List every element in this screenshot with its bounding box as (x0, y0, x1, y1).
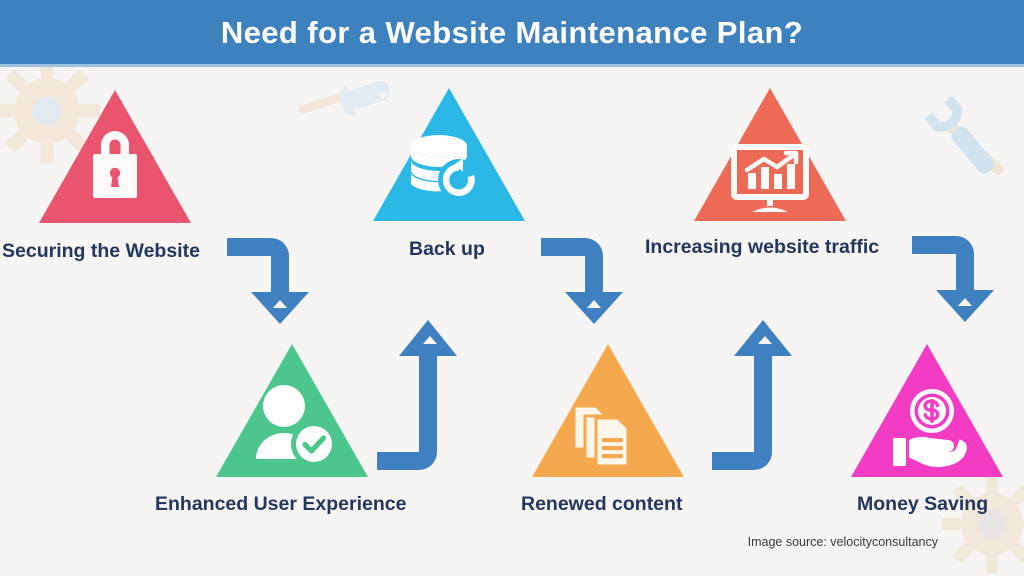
triangle-shape (532, 344, 684, 477)
triangle-shape (851, 344, 1003, 477)
arrow-down-backup-to-content (541, 236, 641, 326)
arrow-down-securing-to-ux (227, 236, 327, 326)
arrow-up-content-to-traffic (712, 316, 812, 472)
node-label-securing-the-website: Securing the Website (2, 242, 200, 262)
node-label-back-up: Back up (409, 240, 485, 260)
node-securing-the-website[interactable] (39, 90, 191, 223)
node-back-up[interactable] (373, 88, 525, 221)
triangle-shape (216, 344, 368, 477)
node-enhanced-user-experience[interactable] (216, 344, 368, 477)
node-label-enhanced-user-experience: Enhanced User Experience (155, 495, 406, 515)
image-source-credit: Image source: velocityconsultancy (748, 536, 938, 549)
gear-icon (940, 472, 1024, 576)
node-label-renewed-content: Renewed content (521, 495, 682, 515)
arrow-down-traffic-to-money (912, 234, 1012, 324)
triangle-shape (39, 90, 191, 223)
page-title: Need for a Website Maintenance Plan? (221, 17, 803, 48)
wrench-icon (916, 82, 1024, 212)
triangle-shape (373, 88, 525, 221)
node-label-money-saving: Money Saving (857, 495, 988, 515)
node-money-saving[interactable] (851, 344, 1003, 477)
title-banner: Need for a Website Maintenance Plan? (0, 0, 1024, 64)
node-renewed-content[interactable] (532, 344, 684, 477)
triangle-shape (694, 88, 846, 221)
node-increasing-website-traffic[interactable] (694, 88, 846, 221)
node-label-increasing-website-traffic: Increasing website traffic (645, 238, 879, 258)
arrow-up-ux-to-backup (377, 316, 477, 472)
infographic-canvas: Need for a Website Maintenance Plan? Sec… (0, 0, 1024, 576)
